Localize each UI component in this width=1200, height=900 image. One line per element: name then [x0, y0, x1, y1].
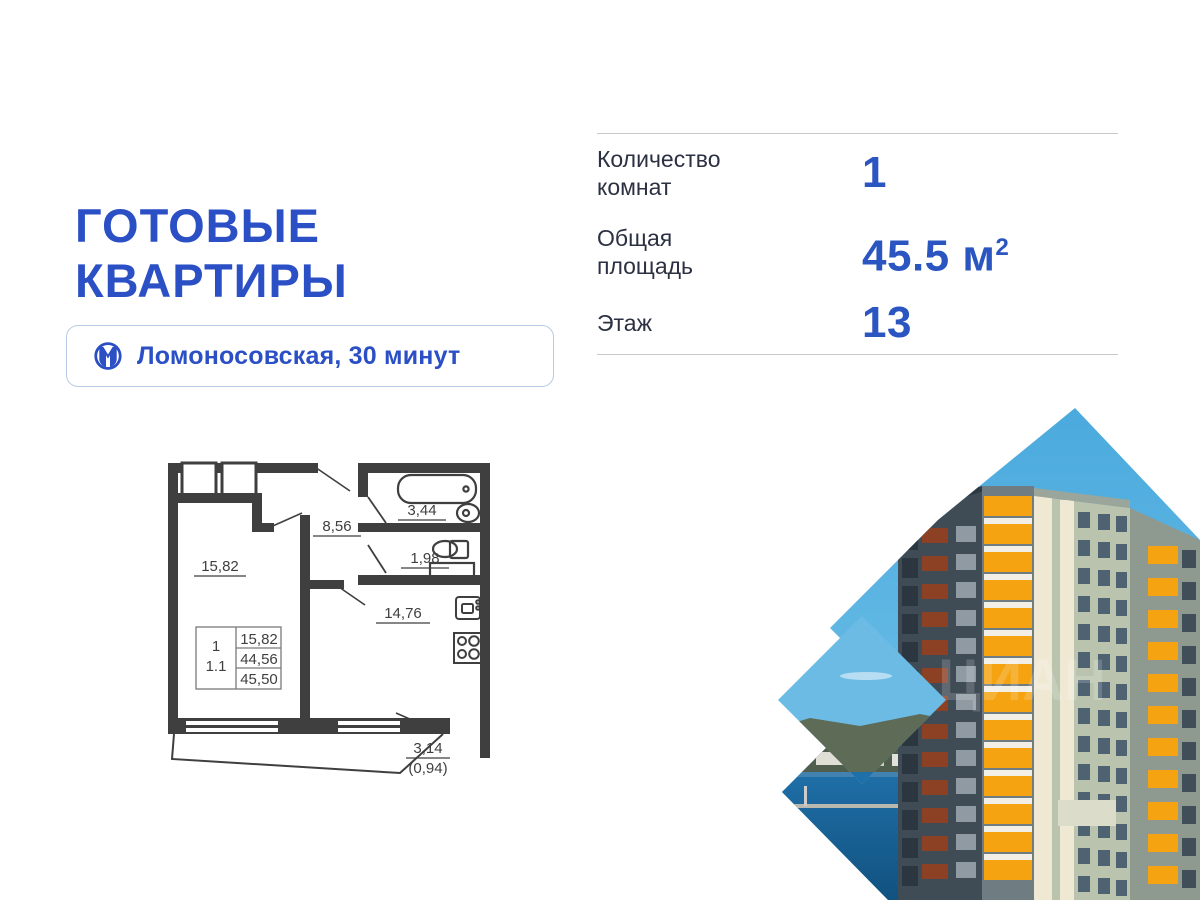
fixture-bathtub — [398, 475, 476, 503]
room-area-living: 15,82 — [201, 558, 239, 575]
page-title: ГОТОВЫЕ КВАРТИРЫ — [75, 198, 348, 308]
metro-station-badge[interactable]: Ломоносовская, 30 минут — [66, 325, 554, 387]
photo-watermark: ЦИАН — [938, 648, 1106, 713]
fixture-sink — [457, 504, 479, 522]
spec-value-area-number: 45.5 м — [862, 231, 995, 280]
spec-value-area: 45.5 м2 — [862, 224, 1009, 281]
stamp-apartment-index: 1.1 — [206, 658, 227, 675]
spec-value-area-superscript: 2 — [995, 234, 1009, 261]
spec-value-floor: 13 — [862, 299, 912, 347]
spec-value-rooms: 1 — [862, 149, 887, 197]
spec-label-area: Общая площадь — [597, 224, 862, 280]
room-area-wc: 1,98 — [410, 550, 439, 567]
fixture-stove — [454, 633, 482, 663]
room-area-hallway: 8,56 — [322, 518, 351, 535]
spec-row-rooms: Количество комнат 1 — [597, 134, 1118, 212]
listing-card: ГОТОВЫЕ КВАРТИРЫ Ломоносовская, 30 минут… — [0, 0, 1200, 900]
room-area-bathroom: 3,44 — [407, 502, 436, 519]
specs-bottom-divider — [597, 354, 1118, 355]
room-area-balcony-reduced: (0,94) — [408, 760, 447, 777]
balcony-outline — [172, 734, 443, 773]
stamp-total-area: 45,50 — [240, 671, 278, 688]
spec-label-rooms: Количество комнат — [597, 145, 862, 201]
stamp-apartment-number: 1 — [212, 638, 220, 655]
floor-plan[interactable]: 15,82 8,56 3,44 1,98 14,76 3,14 (0,94) — [160, 455, 510, 805]
spec-label-floor: Этаж — [597, 309, 862, 337]
leader-lines — [266, 465, 428, 727]
room-area-kitchen: 14,76 — [384, 605, 422, 622]
metro-m-logo-icon — [91, 339, 125, 373]
spec-row-floor: Этаж 13 — [597, 292, 1118, 354]
fixture-kitchen-sink — [456, 597, 480, 619]
building-photo[interactable]: ЦИАН — [770, 400, 1200, 900]
room-area-balcony: 3,14 — [413, 740, 442, 757]
specs-table: Количество комнат 1 Общая площадь 45.5 м… — [597, 133, 1118, 355]
stamp-area-no-balcony: 44,56 — [240, 651, 278, 668]
metro-station-label: Ломоносовская, 30 минут — [137, 342, 460, 371]
spec-row-area: Общая площадь 45.5 м2 — [597, 212, 1118, 292]
stamp-living-area: 15,82 — [240, 631, 278, 648]
